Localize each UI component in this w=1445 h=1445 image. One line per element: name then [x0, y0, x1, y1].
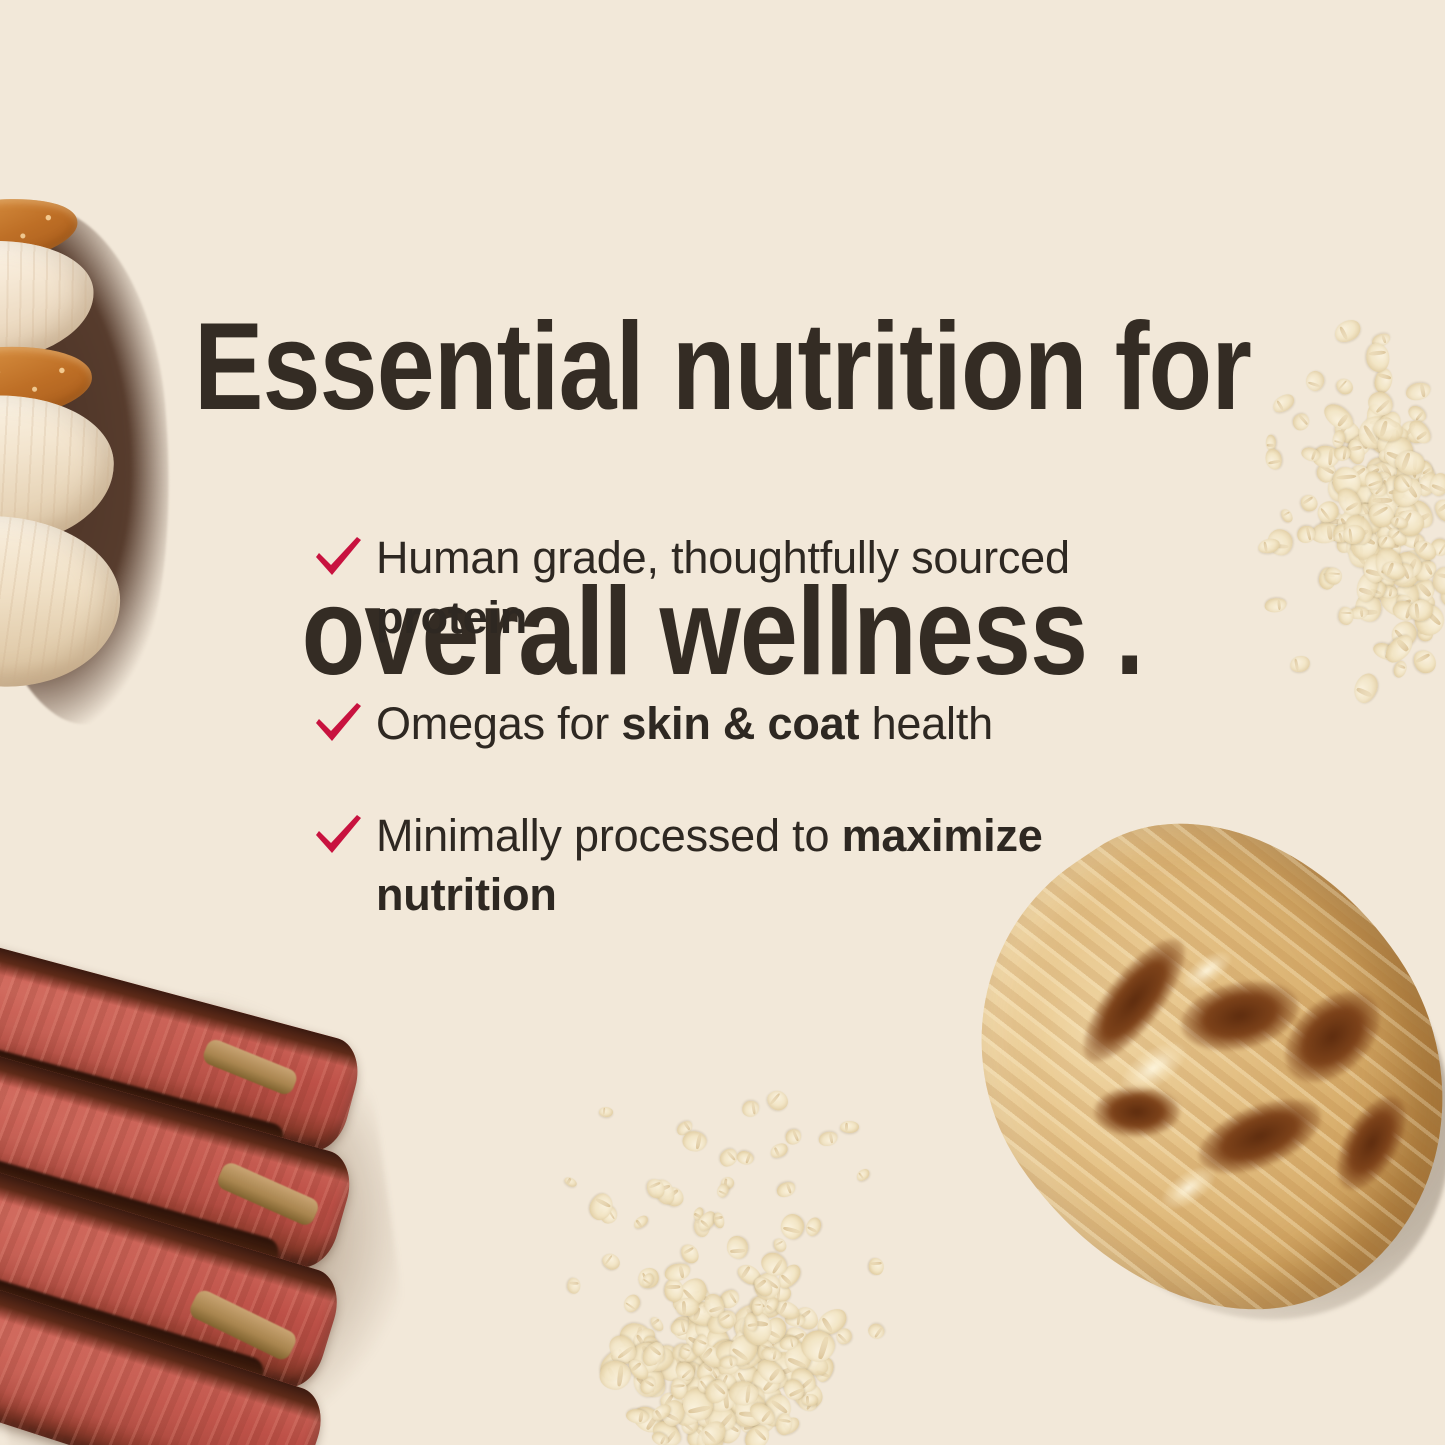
rolled-oats-scatter-center: [655, 1076, 905, 1216]
list-item: Minimally processed to maximize nutritio…: [312, 806, 1192, 926]
bullet-2-segment-2: skin & coat: [621, 698, 859, 749]
list-item: Omegas for skin & coat health: [312, 694, 1192, 754]
oat-flake: [735, 1148, 755, 1166]
sliced-steak-photo: [0, 968, 380, 1445]
bullet-1-segment-2: protein: [376, 592, 527, 643]
list-item: Human grade, thoughtfully sourced protei…: [312, 528, 1192, 648]
list-item-label: Omegas for skin & coat health: [376, 694, 1192, 754]
headline-line-1: Essential nutrition for: [116, 301, 1330, 434]
check-icon: [312, 534, 364, 582]
oat-flake: [783, 1126, 804, 1147]
oat-flake: [726, 1236, 749, 1260]
oat-flake: [778, 1212, 807, 1242]
check-icon: [312, 812, 364, 860]
oat-flake: [566, 1277, 580, 1293]
oat-flake: [621, 1292, 643, 1315]
oat-flake: [663, 1279, 683, 1303]
oat-flake: [1410, 646, 1440, 677]
list-item-label: Minimally processed to maximize nutritio…: [376, 806, 1192, 926]
oat-flake: [803, 1215, 824, 1238]
marketing-banner: Essential nutrition for overall wellness…: [0, 0, 1445, 1445]
oat-flake: [1331, 316, 1364, 346]
oat-flake: [868, 1258, 884, 1276]
oat-flake: [1431, 496, 1445, 526]
oat-flake: [599, 1106, 614, 1117]
oat-flake: [840, 1121, 859, 1134]
bullet-1-segment-1: Human grade, thoughtfully sourced: [376, 532, 1070, 583]
check-icon: [312, 700, 364, 748]
oat-flake: [563, 1176, 579, 1190]
oat-flake: [1350, 669, 1383, 706]
bullet-3-segment-1: Minimally processed to: [376, 810, 842, 861]
oat-flake: [763, 1087, 792, 1115]
oat-flake: [1337, 607, 1353, 625]
oat-flake: [865, 1320, 887, 1341]
list-item-label: Human grade, thoughtfully sourced protei…: [376, 528, 1192, 648]
oat-flake: [599, 1359, 633, 1391]
bullet-2-segment-3: health: [859, 698, 993, 749]
oat-flake: [631, 1213, 650, 1231]
oat-flake: [1333, 375, 1356, 398]
oat-flake: [599, 1251, 622, 1274]
oat-flake: [771, 1236, 788, 1254]
bullet-2-segment-1: Omegas for: [376, 698, 621, 749]
oat-flake: [1404, 381, 1432, 403]
benefits-list: Human grade, thoughtfully sourced protei…: [312, 528, 1192, 925]
